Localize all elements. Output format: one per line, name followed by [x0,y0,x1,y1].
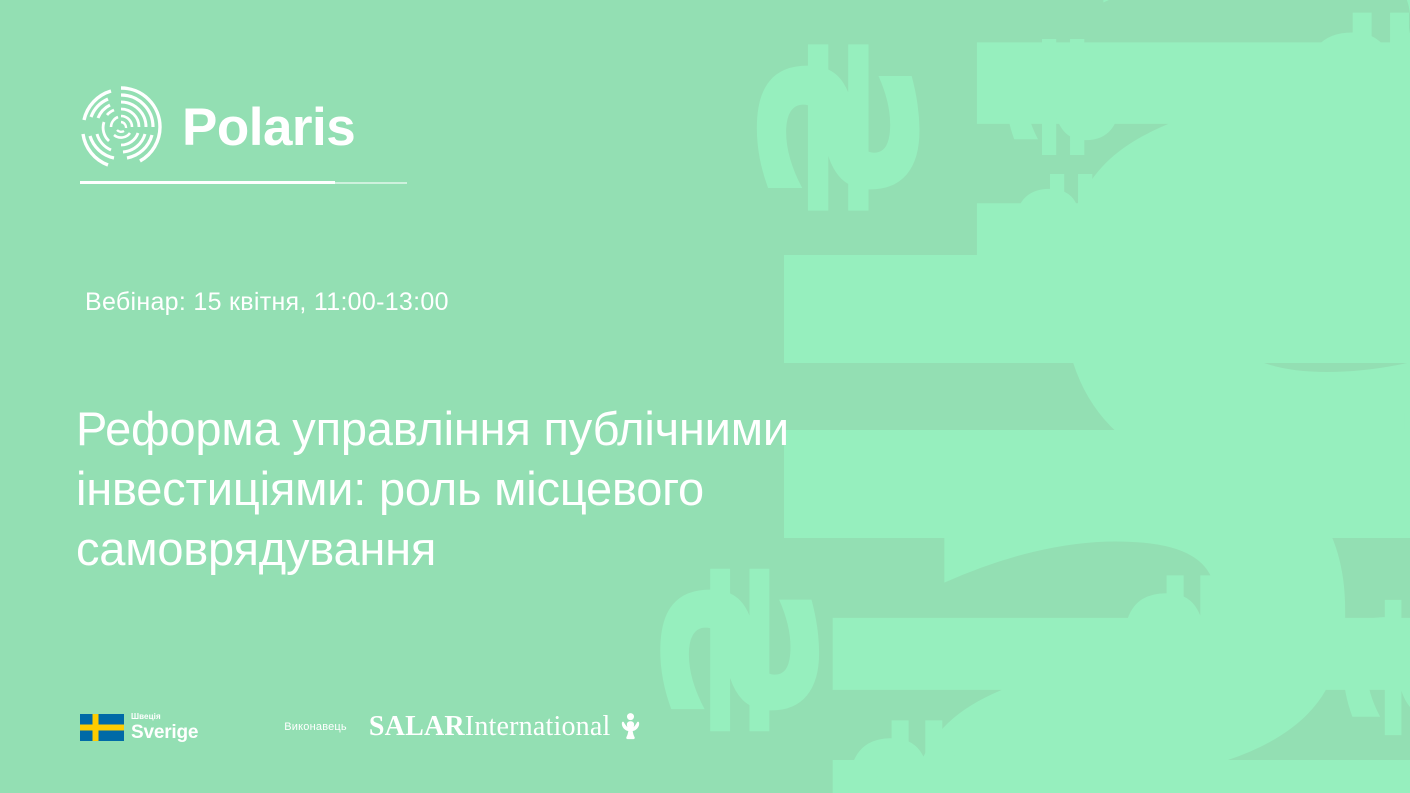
pattern-block-right-top [1190,255,1410,363]
sweden-label-uk: Швеція [131,713,198,721]
presentation-slide: ₴ ₴ ₴ ₴ ₴ ₴ ₴ ₴ ₴ ₴ ₴ ₴ ₴ [0,0,1410,793]
salar-logo: SALARInternational [369,712,644,742]
hryvnia-glyph-xl-top: ₴ [940,0,1410,610]
slide-headline: Реформа управління публічними інвестиція… [76,399,936,578]
hryvnia-glyph-bottom-far: ₴ [822,713,1002,793]
salar-name-regular: International [465,711,611,742]
brand-lockup: Polaris [78,84,355,170]
divider-segment-faint [335,182,407,184]
sweden-label-group: Швеція Sverige [131,713,198,742]
hryvnia-glyph-top-left: ₴ [727,35,942,220]
salar-wordmark: SALARInternational [369,713,611,741]
salar-figure-icon [618,712,643,742]
hryvnia-glyph-mid-center: ₴ [984,33,1134,162]
polaris-spiral-icon [78,84,164,170]
divider-segment-strong [80,181,335,184]
hryvnia-glyph-bottom-left: ₴ [630,560,840,740]
hryvnia-glyph-bottom-mid: ₴ [1097,568,1277,723]
sweden-flag-icon [80,714,124,741]
sweden-logo: Швеція Sverige [80,713,198,742]
salar-name-bold: SALAR [369,711,465,742]
hryvnia-glyph-bottom-right: ₴ [1318,592,1410,742]
hryvnia-glyph-top-right: ₴ [1276,4,1410,176]
hryvnia-glyph-mid-left: ₴ [992,168,1142,297]
brand-divider [80,181,407,184]
brand-name: Polaris [182,101,355,154]
webinar-datetime: Вебінар: 15 квітня, 11:00-13:00 [85,288,449,317]
hryvnia-glyph-right-edge: ₴ [1344,406,1410,544]
hryvnia-glyph-center: ₴ [1110,162,1285,312]
hryvnia-glyph-lower-center: ₴ [1129,311,1279,440]
pattern-block-upper [784,255,1350,363]
sweden-label-sv: Sverige [131,723,198,742]
footer-logos: Швеція Sverige Виконавець SALARInternati… [80,707,643,747]
executor-label: Виконавець [284,721,347,733]
